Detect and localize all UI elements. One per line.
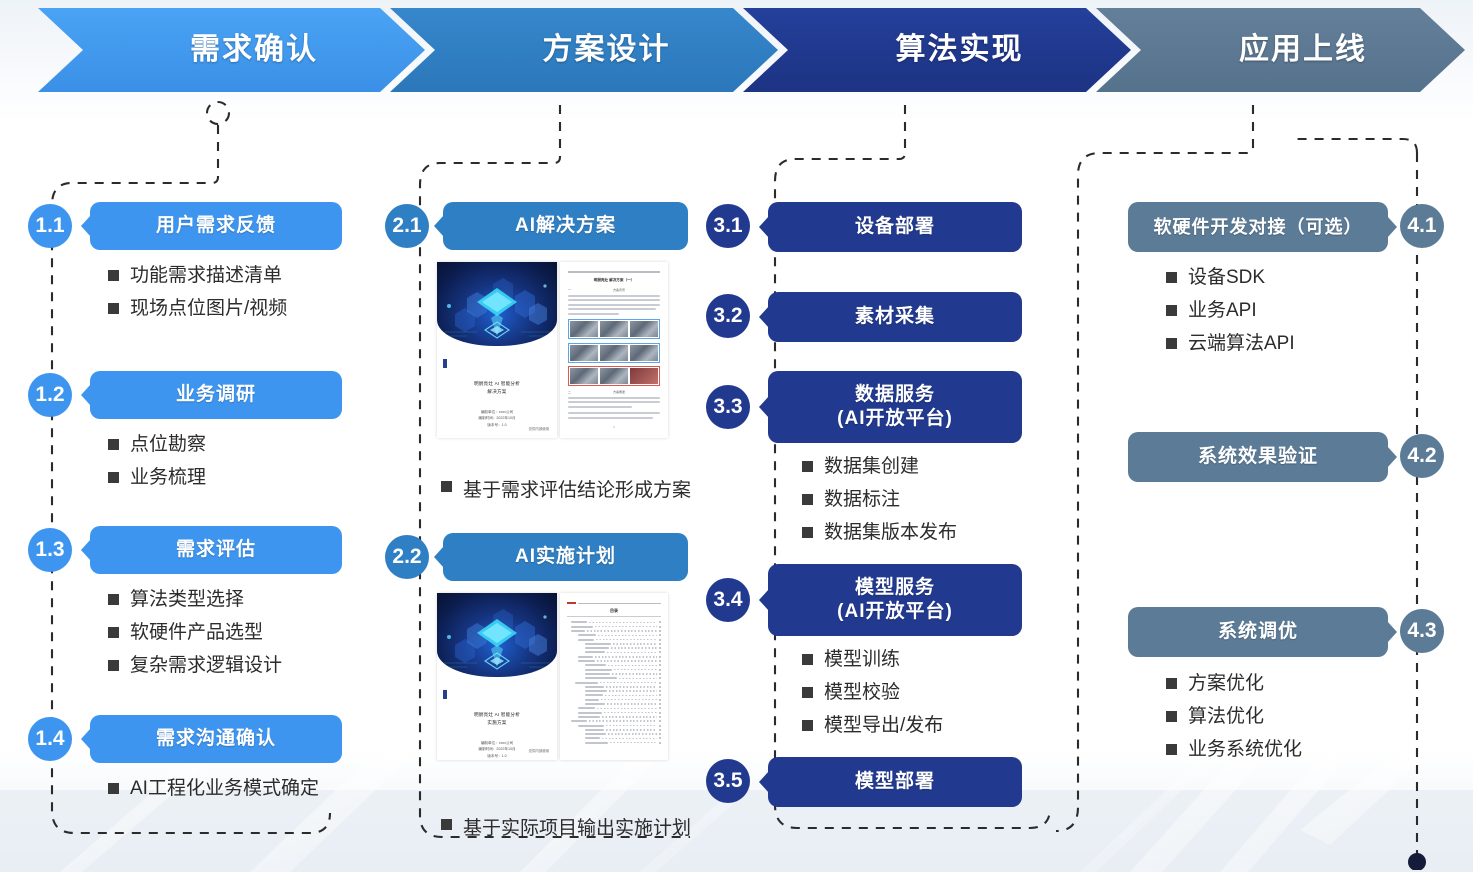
step-pill-1-2[interactable]: 业务调研 <box>90 371 342 419</box>
list-item: 算法类型选择 <box>108 588 282 612</box>
step-title-3-1: 设备部署 <box>855 215 935 239</box>
step-title-2-2: AI实施计划 <box>515 545 616 569</box>
step-node-2-2[interactable]: 2.2 <box>385 535 429 579</box>
stage-label-2: 方案设计 <box>435 0 778 100</box>
bullet-text: 复杂需求逻辑设计 <box>130 654 282 678</box>
bullet-text: 软硬件产品选型 <box>130 621 263 645</box>
bullet-square-icon <box>802 654 813 665</box>
doc-cover-footer: 仅供内部使用 <box>529 748 549 753</box>
step-pill-3-1[interactable]: 设备部署 <box>768 202 1022 252</box>
bullet-text: 方案优化 <box>1188 672 1264 696</box>
step-node-1-2[interactable]: 1.2 <box>28 373 72 417</box>
step-pill-2-2[interactable]: AI实施计划 <box>443 533 688 581</box>
isometric-ai-illustration <box>437 593 557 677</box>
step-pill-1-3[interactable]: 需求评估 <box>90 526 342 574</box>
list-item: 业务梳理 <box>108 466 206 490</box>
bullet-text: 模型训练 <box>824 648 900 672</box>
bullet-text: 业务API <box>1188 299 1257 323</box>
doc-cover-page: 明厨亮灶 AI 智能分析 解决方案 编制单位：xxxx公司 编制时间：2022年… <box>437 262 557 438</box>
step-pill-1-1[interactable]: 用户需求反馈 <box>90 202 342 250</box>
step-node-2-1[interactable]: 2.1 <box>385 204 429 248</box>
bullet-square-icon <box>441 819 452 830</box>
step-title-4-2: 系统效果验证 <box>1198 445 1318 469</box>
list-item: 模型训练 <box>802 648 943 672</box>
list-item: 模型导出/发布 <box>802 714 943 738</box>
step-title-2-1: AI解决方案 <box>515 214 616 238</box>
list-item: 点位勘察 <box>108 433 206 457</box>
step-node-3-3[interactable]: 3.3 <box>706 385 750 429</box>
list-item: 功能需求描述清单 <box>108 264 287 288</box>
list-item: 业务系统优化 <box>1166 738 1302 762</box>
step-title-4-1: 软硬件开发对接（可选） <box>1154 216 1363 239</box>
step-pill-3-2[interactable]: 素材采集 <box>768 292 1022 342</box>
step-bullets-4-3: 方案优化 算法优化 业务系统优化 <box>1166 672 1302 770</box>
step-title-1-1: 用户需求反馈 <box>156 214 276 238</box>
bullet-text: 模型校验 <box>824 681 900 705</box>
step-title-3-3: 数据服务 <box>855 383 935 407</box>
step-title-1-3: 需求评估 <box>176 538 256 562</box>
step-node-4-3[interactable]: 4.3 <box>1400 609 1444 653</box>
bullet-text: AI工程化业务模式确定 <box>130 777 319 801</box>
bullet-square-icon <box>108 303 119 314</box>
step-bullets-1-1: 功能需求描述清单 现场点位图片/视频 <box>108 264 287 330</box>
bullet-text: 算法类型选择 <box>130 588 244 612</box>
step-subtitle-3-3: (AI开放平台) <box>837 407 953 431</box>
step-pill-4-3[interactable]: 系统调优 <box>1128 607 1388 657</box>
doc-spine-tab-icon <box>443 690 447 699</box>
stage-label-1: 需求确认 <box>83 0 425 100</box>
step-node-3-4[interactable]: 3.4 <box>706 578 750 622</box>
list-item: 业务API <box>1166 299 1295 323</box>
step-node-1-4[interactable]: 1.4 <box>28 717 72 761</box>
step-bullets-3-3: 数据集创建 数据标注 数据集版本发布 <box>802 455 957 553</box>
doc-inner-heading: 明厨亮灶 解决方案（一） <box>568 278 660 283</box>
doc-inner-page-toc: 目录 <box>560 593 668 760</box>
doc-inner-heading: 目录 <box>567 608 661 617</box>
step-bullets-1-4: AI工程化业务模式确定 <box>108 777 319 810</box>
bullet-text: 现场点位图片/视频 <box>130 297 287 321</box>
bullet-square-icon <box>802 687 813 698</box>
doc-spine-tab-icon <box>443 359 447 368</box>
bullet-square-icon <box>802 494 813 505</box>
step-pill-3-4[interactable]: 模型服务 (AI开放平台) <box>768 564 1022 636</box>
doc-cover-title: 明厨亮灶 AI 智能分析 解决方案 <box>437 380 557 397</box>
bullet-text: 业务梳理 <box>130 466 206 490</box>
list-item: 算法优化 <box>1166 705 1302 729</box>
bullet-square-icon <box>802 527 813 538</box>
bracket-col4-top-right <box>1290 139 1417 153</box>
list-item: 软硬件产品选型 <box>108 621 282 645</box>
stage-header-bar: 需求确认 方案设计 算法实现 应用上线 <box>0 0 1473 100</box>
step-title-3-2: 素材采集 <box>855 305 935 329</box>
list-item: 模型校验 <box>802 681 943 705</box>
list-item: 数据标注 <box>802 488 957 512</box>
bullet-square-icon <box>108 783 119 794</box>
list-item: 设备SDK <box>1166 266 1295 290</box>
bullet-square-icon <box>108 472 119 483</box>
step-pill-3-3[interactable]: 数据服务 (AI开放平台) <box>768 371 1022 443</box>
doc-cover-page: 明厨亮灶 AI 智能分析 实施方案 编制单位：xxxx公司 编制时间：2022年… <box>437 593 557 760</box>
list-item: 复杂需求逻辑设计 <box>108 654 282 678</box>
step-node-1-3[interactable]: 1.3 <box>28 528 72 572</box>
step-title-3-4: 模型服务 <box>855 576 935 600</box>
list-item: AI工程化业务模式确定 <box>108 777 319 801</box>
document-thumbnail-ai-solution[interactable]: 明厨亮灶 AI 智能分析 解决方案 编制单位：xxxx公司 编制时间：2022年… <box>437 262 668 438</box>
doc-inner-page-image-grid: 明厨亮灶 解决方案（一） 一方案背景 二方案概述 1 <box>560 262 668 438</box>
bullet-square-icon <box>1166 338 1177 349</box>
step-pill-4-2[interactable]: 系统效果验证 <box>1128 432 1388 482</box>
doc-cover-footer: 仅供内部使用 <box>529 426 549 431</box>
list-item: 数据集创建 <box>802 455 957 479</box>
step-bullets-1-3: 算法类型选择 软硬件产品选型 复杂需求逻辑设计 <box>108 588 282 686</box>
list-item: 云端算法API <box>1166 332 1295 356</box>
step-node-4-1[interactable]: 4.1 <box>1400 204 1444 248</box>
step-pill-4-1[interactable]: 软硬件开发对接（可选） <box>1128 202 1388 252</box>
step-node-4-2[interactable]: 4.2 <box>1400 434 1444 478</box>
bullet-text: 数据标注 <box>824 488 900 512</box>
bullet-square-icon <box>1166 744 1177 755</box>
step-title-3-5: 模型部署 <box>855 770 935 794</box>
stem-circle-col1 <box>207 102 229 124</box>
bullet-square-icon <box>108 270 119 281</box>
bullet-text: 设备SDK <box>1188 266 1265 290</box>
bullet-square-icon <box>108 594 119 605</box>
step-pill-1-4[interactable]: 需求沟通确认 <box>90 715 342 763</box>
step-bullets-1-2: 点位勘察 业务梳理 <box>108 433 206 499</box>
bullet-text: 模型导出/发布 <box>824 714 943 738</box>
step-pill-3-5[interactable]: 模型部署 <box>768 757 1022 807</box>
bullet-square-icon <box>108 660 119 671</box>
bullet-square-icon <box>1166 711 1177 722</box>
step-bullets-4-1: 设备SDK 业务API 云端算法API <box>1166 266 1295 364</box>
step-subtitle-3-4: (AI开放平台) <box>837 600 953 624</box>
bullet-square-icon <box>108 439 119 450</box>
stage-label-3: 算法实现 <box>788 0 1131 100</box>
step-node-3-2[interactable]: 3.2 <box>706 294 750 338</box>
bullet-square-icon <box>802 720 813 731</box>
step-bullets-3-4: 模型训练 模型校验 模型导出/发布 <box>802 648 943 746</box>
bullet-square-icon <box>108 627 119 638</box>
bullet-text: 云端算法API <box>1188 332 1295 356</box>
list-item: 数据集版本发布 <box>802 521 957 545</box>
step-title-4-3: 系统调优 <box>1218 620 1298 644</box>
step-pill-2-1[interactable]: AI解决方案 <box>443 202 688 250</box>
bullet-text: 业务系统优化 <box>1188 738 1302 762</box>
isometric-ai-illustration <box>437 262 557 346</box>
step-node-1-1[interactable]: 1.1 <box>28 204 72 248</box>
bullet-square-icon <box>1166 678 1177 689</box>
doc-cover-title: 明厨亮灶 AI 智能分析 实施方案 <box>437 711 557 728</box>
bracket-end-dot <box>1408 853 1426 870</box>
step-title-1-4: 需求沟通确认 <box>156 727 276 751</box>
bullet-square-icon <box>802 461 813 472</box>
bullet-text: 数据集版本发布 <box>824 521 957 545</box>
document-thumbnail-ai-plan[interactable]: 明厨亮灶 AI 智能分析 实施方案 编制单位：xxxx公司 编制时间：2022年… <box>437 593 668 760</box>
doc-caption-2-2: 基于实际项目输出实施计划 <box>441 813 691 840</box>
bullet-square-icon <box>1166 272 1177 283</box>
doc-caption-2-1: 基于需求评估结论形成方案 <box>441 475 691 502</box>
stage-label-4: 应用上线 <box>1141 0 1465 100</box>
bullet-text: 点位勘察 <box>130 433 206 457</box>
bullet-text: 算法优化 <box>1188 705 1264 729</box>
step-node-3-5[interactable]: 3.5 <box>706 759 750 803</box>
step-title-1-2: 业务调研 <box>176 383 256 407</box>
bullet-text: 数据集创建 <box>824 455 919 479</box>
bullet-text: 功能需求描述清单 <box>130 264 282 288</box>
list-item: 方案优化 <box>1166 672 1302 696</box>
bullet-square-icon <box>441 481 452 492</box>
step-node-3-1[interactable]: 3.1 <box>706 204 750 248</box>
list-item: 现场点位图片/视频 <box>108 297 287 321</box>
bullet-square-icon <box>1166 305 1177 316</box>
